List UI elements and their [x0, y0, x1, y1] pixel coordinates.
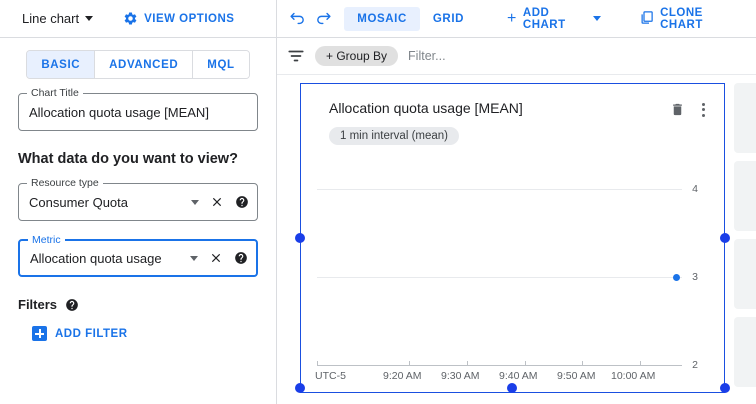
- chart-card[interactable]: Allocation quota usage [MEAN] 1 min inte…: [300, 83, 725, 393]
- group-by-chip[interactable]: + Group By: [315, 46, 398, 66]
- clear-icon[interactable]: [209, 251, 223, 265]
- adjacent-chart-cards: [734, 83, 756, 395]
- redo-button[interactable]: [311, 5, 337, 33]
- plus-icon: [32, 326, 47, 341]
- chart-card-title: Allocation quota usage [MEAN]: [329, 100, 523, 116]
- trash-icon[interactable]: [670, 102, 685, 117]
- chart-card-placeholder[interactable]: [734, 161, 756, 231]
- tab-advanced-label: ADVANCED: [109, 59, 178, 71]
- y-tick-label-2: 2: [692, 360, 698, 370]
- add-filter-label: ADD FILTER: [55, 328, 128, 340]
- monitoring-chart-editor: Line chart VIEW OPTIONS BASIC ADVANCED M: [0, 0, 756, 404]
- chart-card-placeholder[interactable]: [734, 83, 756, 153]
- chart-card-header: Allocation quota usage [MEAN]: [301, 84, 724, 117]
- resize-handle-left[interactable]: [295, 233, 305, 243]
- help-icon[interactable]: [65, 298, 79, 312]
- resource-type-actions: [191, 195, 249, 209]
- resize-handle-bottom-right[interactable]: [720, 383, 730, 393]
- chart-canvas: Allocation quota usage [MEAN] 1 min inte…: [277, 75, 756, 404]
- gear-icon: [123, 11, 138, 26]
- x-tick-mark: [525, 361, 526, 365]
- view-options-label: VIEW OPTIONS: [144, 13, 234, 25]
- metric-field[interactable]: Metric Allocation quota usage: [18, 239, 258, 277]
- clone-chart-button[interactable]: CLONE CHART: [631, 1, 748, 37]
- clear-icon[interactable]: [210, 195, 224, 209]
- chart-card-actions: [670, 100, 708, 117]
- timezone-label: UTC-5: [315, 370, 346, 382]
- resource-type-value: Consumer Quota: [29, 195, 191, 210]
- mosaic-label: MOSAIC: [357, 13, 407, 25]
- chart-card-placeholder[interactable]: [734, 317, 756, 387]
- tab-mql[interactable]: MQL: [193, 51, 248, 78]
- chevron-down-icon: [593, 16, 601, 21]
- filter-input[interactable]: Filter...: [408, 49, 446, 63]
- filters-section: Filters: [18, 297, 258, 312]
- add-filter-button[interactable]: ADD FILTER: [32, 326, 258, 341]
- chart-title-value: Allocation quota usage [MEAN]: [29, 105, 249, 120]
- resize-handle-right[interactable]: [720, 233, 730, 243]
- interval-chip: 1 min interval (mean): [329, 127, 459, 145]
- help-icon[interactable]: [234, 251, 248, 265]
- tab-advanced[interactable]: ADVANCED: [95, 51, 193, 78]
- x-tick-mark: [409, 361, 410, 365]
- x-tick-mark: [317, 361, 318, 365]
- undo-button[interactable]: [285, 5, 311, 33]
- plus-icon: +: [507, 11, 517, 27]
- grid-label: GRID: [433, 13, 464, 25]
- x-axis-line: [317, 365, 682, 366]
- x-tick-mark: [582, 361, 583, 365]
- metric-legend: Metric: [28, 234, 65, 246]
- filter-icon[interactable]: [287, 47, 305, 65]
- x-tick-mark: [640, 361, 641, 365]
- gridline-y-4: [317, 189, 682, 190]
- resize-handle-bottom-center[interactable]: [507, 383, 517, 393]
- config-tabs-row: BASIC ADVANCED MQL: [0, 38, 276, 79]
- left-panel-toolbar: Line chart VIEW OPTIONS: [0, 0, 276, 38]
- clone-icon: [639, 10, 654, 28]
- x-tick-label-4: 10:00 AM: [611, 370, 655, 382]
- chart-type-label: Line chart: [22, 11, 79, 26]
- help-icon[interactable]: [235, 195, 249, 209]
- tab-basic[interactable]: BASIC: [27, 51, 95, 78]
- layout-mode-mosaic[interactable]: MOSAIC: [344, 7, 420, 31]
- add-chart-label: ADD CHART: [523, 7, 587, 31]
- chart-plot-area: 4 3 2 UTC-5 9:20 AM 9:30 AM: [301, 162, 724, 392]
- x-tick-label-2: 9:40 AM: [499, 370, 538, 382]
- x-tick-label-0: 9:20 AM: [383, 370, 422, 382]
- gridline-y-3: [317, 277, 682, 278]
- y-tick-label-4: 4: [692, 184, 698, 194]
- chart-type-select[interactable]: Line chart: [18, 8, 97, 29]
- tab-mql-label: MQL: [207, 59, 234, 71]
- metric-actions: [190, 251, 248, 265]
- layout-mode-grid[interactable]: GRID: [420, 7, 477, 31]
- add-chart-button[interactable]: + ADD CHART: [499, 1, 609, 37]
- filter-bar: + Group By Filter...: [277, 38, 756, 75]
- y-tick-label-3: 3: [692, 272, 698, 282]
- resize-handle-bottom-left[interactable]: [295, 383, 305, 393]
- tab-basic-label: BASIC: [41, 59, 80, 71]
- x-tick-mark: [467, 361, 468, 365]
- chart-title-field[interactable]: Chart Title Allocation quota usage [MEAN…: [18, 93, 258, 131]
- preview-toolbar: MOSAIC GRID + ADD CHART CLONE CHART: [277, 0, 756, 38]
- dropdown-arrow-icon[interactable]: [190, 256, 198, 261]
- resource-type-field[interactable]: Resource type Consumer Quota: [18, 183, 258, 221]
- resource-type-legend: Resource type: [27, 177, 103, 189]
- config-tabs: BASIC ADVANCED MQL: [26, 50, 249, 79]
- data-section-heading: What data do you want to view?: [18, 151, 258, 167]
- config-form: Chart Title Allocation quota usage [MEAN…: [0, 79, 276, 341]
- x-tick-label-3: 9:50 AM: [557, 370, 596, 382]
- x-tick-label-1: 9:30 AM: [441, 370, 480, 382]
- chart-config-panel: Line chart VIEW OPTIONS BASIC ADVANCED M: [0, 0, 277, 404]
- filters-label: Filters: [18, 297, 57, 312]
- metric-value: Allocation quota usage: [30, 251, 190, 266]
- clone-chart-label: CLONE CHART: [660, 7, 740, 31]
- chevron-down-icon: [85, 16, 93, 21]
- kebab-menu-icon[interactable]: [699, 103, 708, 117]
- chart-preview-panel: MOSAIC GRID + ADD CHART CLONE CHART + G: [277, 0, 756, 404]
- data-point: [673, 274, 680, 281]
- dropdown-arrow-icon[interactable]: [191, 200, 199, 205]
- chart-card-placeholder[interactable]: [734, 239, 756, 309]
- view-options-button[interactable]: VIEW OPTIONS: [123, 11, 234, 26]
- chart-title-legend: Chart Title: [27, 87, 83, 99]
